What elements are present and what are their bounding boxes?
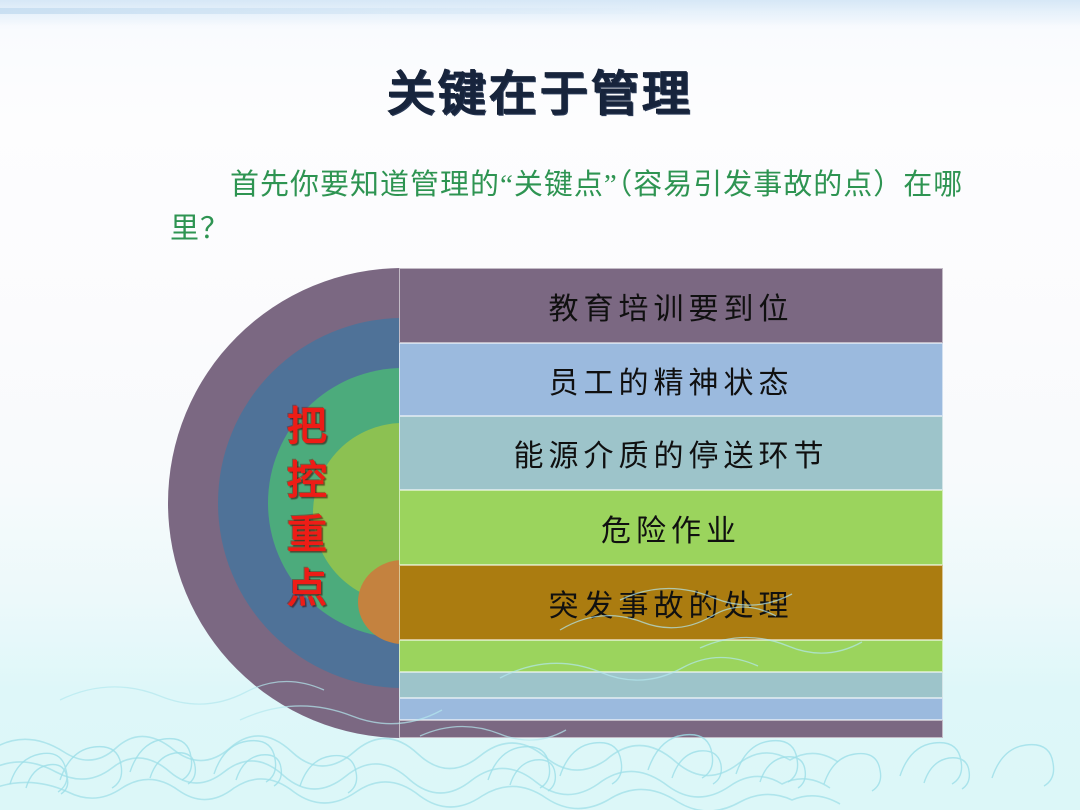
mirror-band-purple (399, 720, 943, 738)
band-emergency-handling[interactable]: 突发事故的处理 (399, 565, 943, 640)
vertical-caption-char-2: 控 (278, 454, 336, 508)
band-employee-morale[interactable]: 员工的精神状态 (399, 343, 943, 416)
page-subtitle: 首先你要知道管理的“关键点”（容易引发事故的点）在哪里？ (170, 163, 980, 251)
band-education[interactable]: 教育培训要到位 (399, 268, 943, 343)
mirror-band-green (399, 640, 943, 672)
band-label-hazardous-work: 危险作业 (601, 506, 741, 550)
band-energy-supply[interactable]: 能源介质的停送环节 (399, 416, 943, 490)
band-label-energy-supply: 能源介质的停送环节 (514, 431, 829, 475)
page-title: 关键在于管理 (0, 54, 1080, 124)
vertical-caption-control-key-points: 把 控 重 点 (278, 400, 336, 616)
vertical-caption-char-1: 把 (278, 400, 336, 454)
mirror-band-blue (399, 698, 943, 720)
vertical-caption-char-3: 重 (278, 508, 336, 562)
band-hazardous-work[interactable]: 危险作业 (399, 490, 943, 565)
band-label-education: 教育培训要到位 (549, 284, 794, 328)
band-label-emergency-handling: 突发事故的处理 (549, 581, 794, 625)
slide-canvas: 教育培训要到位 员工的精神状态 能源介质的停送环节 危险作业 突发事故的处理 把… (0, 0, 1080, 810)
vertical-caption-char-4: 点 (278, 562, 336, 616)
band-label-employee-morale: 员工的精神状态 (549, 358, 794, 402)
mirror-band-teal (399, 672, 943, 698)
